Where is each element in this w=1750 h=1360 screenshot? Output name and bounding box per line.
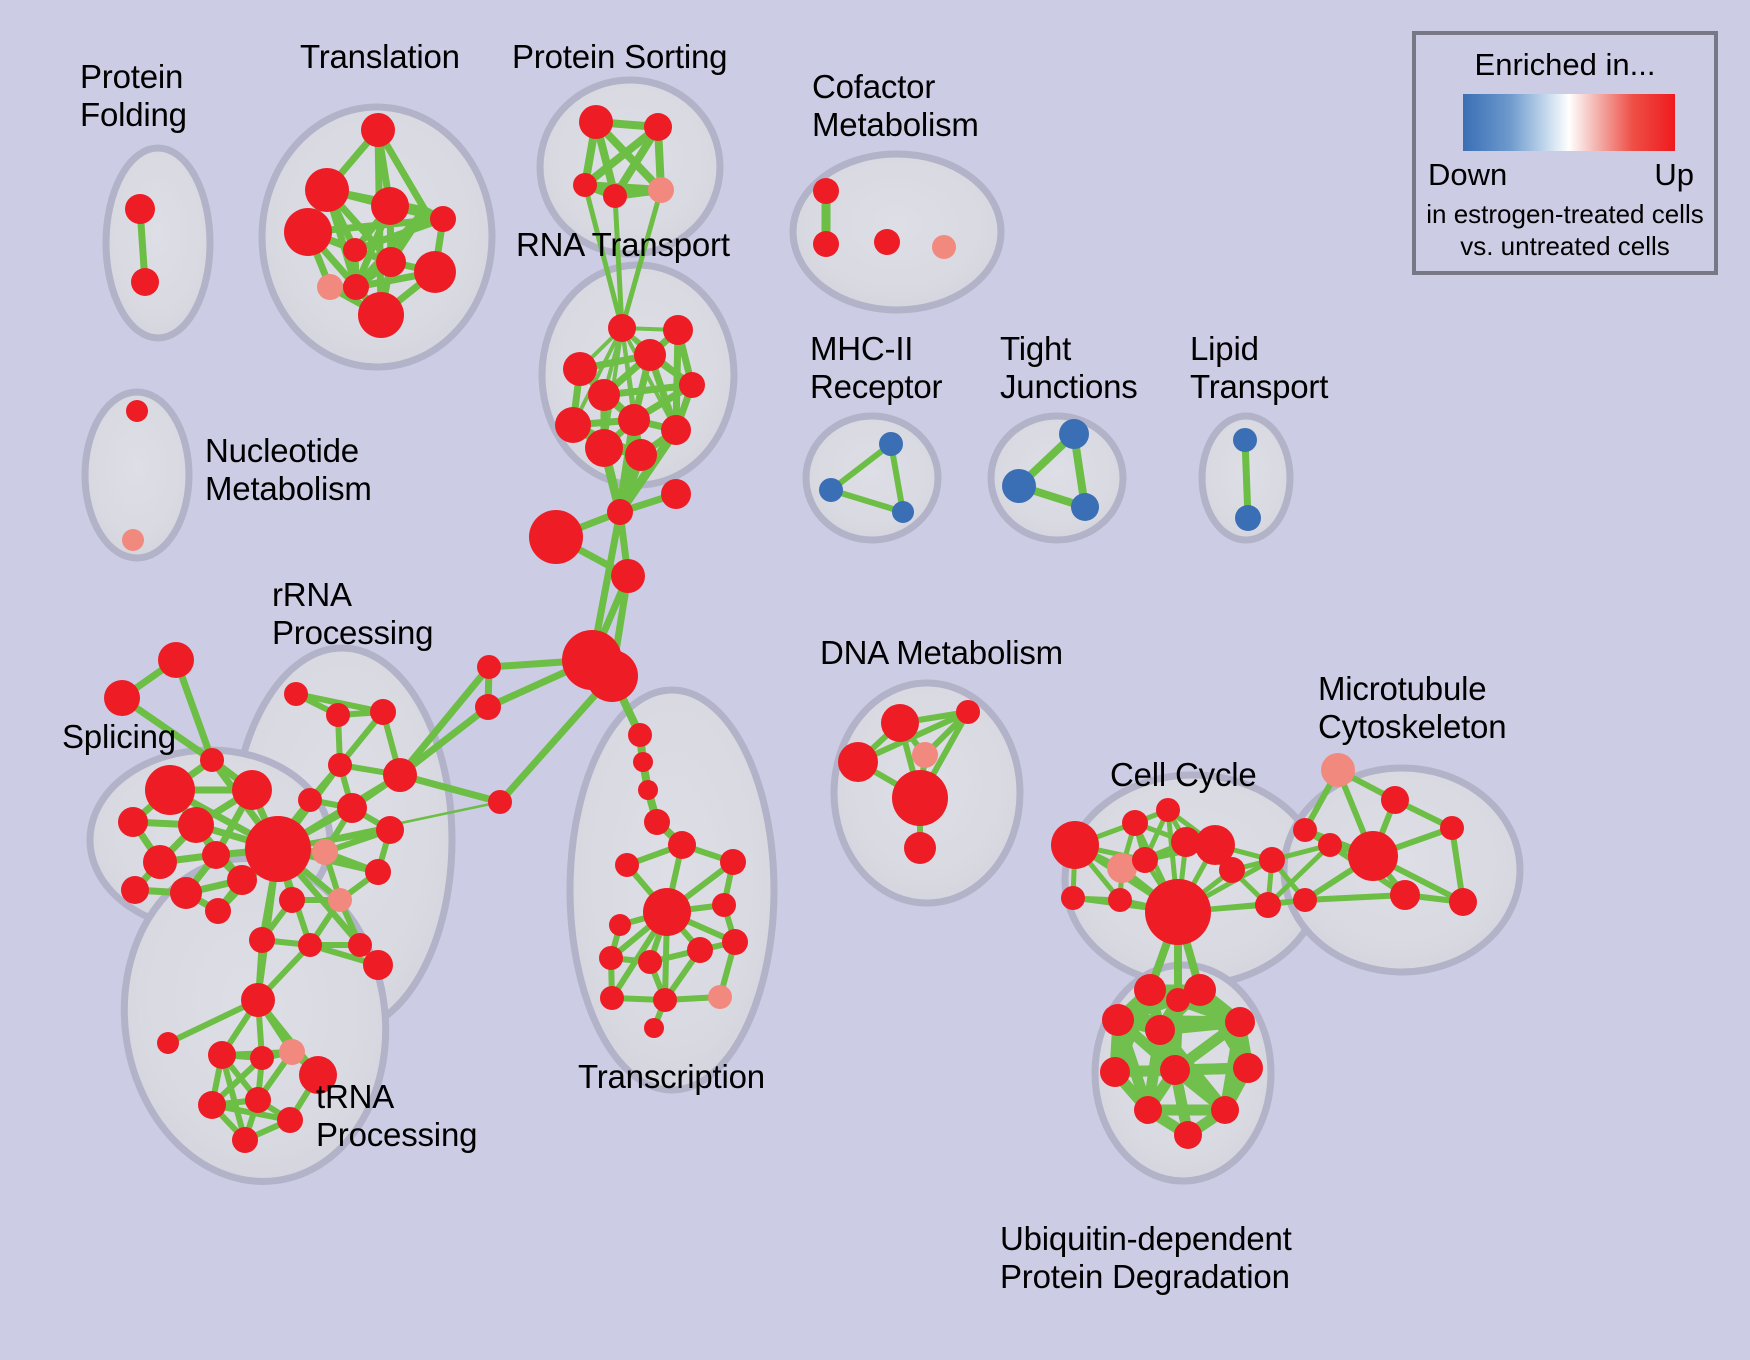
gene-set-node[interactable] [529, 510, 583, 564]
gene-set-node[interactable] [118, 807, 148, 837]
gene-set-node[interactable] [131, 268, 159, 296]
cluster-label-cell-cycle: Cell Cycle [1110, 756, 1257, 794]
gene-set-node[interactable] [241, 983, 275, 1017]
gene-set-node[interactable] [644, 809, 670, 835]
gene-set-node[interactable] [488, 790, 512, 814]
gene-set-node[interactable] [376, 816, 404, 844]
cluster-label-splicing: Splicing [62, 718, 176, 756]
gene-set-node[interactable] [1233, 428, 1257, 452]
legend-up-label: Up [1654, 157, 1694, 193]
gene-set-node[interactable] [819, 478, 843, 502]
gene-set-node[interactable] [634, 339, 666, 371]
gene-set-node[interactable] [312, 839, 338, 865]
gene-set-node[interactable] [1156, 798, 1180, 822]
gene-set-node[interactable] [250, 1046, 274, 1070]
gene-set-node[interactable] [648, 177, 674, 203]
enrichment-map-figure: Protein Folding Translation Protein Sort… [0, 0, 1750, 1360]
gene-set-node[interactable] [279, 887, 305, 913]
cluster-label-tight-junctions: Tight Junctions [1000, 330, 1138, 406]
gene-set-node[interactable] [663, 315, 693, 345]
cluster-label-mhc-ii-receptor: MHC-II Receptor [810, 330, 942, 406]
gene-set-node[interactable] [277, 1107, 303, 1133]
gene-set-node[interactable] [1122, 810, 1148, 836]
gene-set-node[interactable] [284, 208, 332, 256]
gene-set-node[interactable] [611, 559, 645, 593]
gene-set-node[interactable] [555, 407, 591, 443]
gene-set-node[interactable] [245, 1087, 271, 1113]
gene-set-node[interactable] [573, 173, 597, 197]
hull-mhcii [806, 416, 938, 540]
gene-set-node[interactable] [104, 680, 140, 716]
gene-set-node[interactable] [956, 700, 980, 724]
gene-set-node[interactable] [317, 274, 343, 300]
legend-subtitle-line1: in estrogen-treated cells [1416, 199, 1714, 230]
gene-set-node[interactable] [1061, 886, 1085, 910]
gene-set-node[interactable] [708, 985, 732, 1009]
gene-set-node[interactable] [475, 694, 501, 720]
gene-set-node[interactable] [720, 849, 746, 875]
gene-set-node[interactable] [1235, 505, 1261, 531]
cluster-label-protein-folding: Protein Folding [80, 58, 187, 134]
gene-set-node[interactable] [892, 770, 948, 826]
gene-set-node[interactable] [912, 742, 938, 768]
gene-set-node[interactable] [1002, 469, 1036, 503]
legend-title: Enriched in... [1416, 47, 1714, 83]
gene-set-node[interactable] [609, 914, 631, 936]
cluster-label-protein-sorting: Protein Sorting [512, 38, 727, 76]
cluster-label-lipid-transport: Lipid Transport [1190, 330, 1328, 406]
gene-set-node[interactable] [1102, 1004, 1134, 1036]
gene-set-node[interactable] [245, 816, 311, 882]
gene-set-node[interactable] [625, 439, 657, 471]
gene-set-node[interactable] [838, 742, 878, 782]
gene-set-node[interactable] [305, 168, 349, 212]
gene-set-node[interactable] [643, 888, 691, 936]
cluster-label-transcription: Transcription [578, 1058, 765, 1096]
gene-set-node[interactable] [1255, 892, 1281, 918]
gene-set-node[interactable] [607, 499, 633, 525]
gene-set-node[interactable] [1174, 1121, 1202, 1149]
gene-set-node[interactable] [343, 274, 369, 300]
gene-set-node[interactable] [1225, 1007, 1255, 1037]
gene-set-node[interactable] [170, 877, 202, 909]
gene-set-node[interactable] [348, 933, 372, 957]
gene-set-node[interactable] [1318, 833, 1342, 857]
gene-set-node[interactable] [376, 247, 406, 277]
gene-set-node[interactable] [1259, 847, 1285, 873]
gene-set-node[interactable] [1321, 753, 1355, 787]
gene-set-node[interactable] [1390, 880, 1420, 910]
gene-set-node[interactable] [143, 845, 177, 879]
cluster-label-dna-metabolism: DNA Metabolism [820, 634, 1063, 672]
gene-set-node[interactable] [328, 888, 352, 912]
gene-set-node[interactable] [365, 859, 391, 885]
gene-set-node[interactable] [638, 950, 662, 974]
gene-set-node[interactable] [430, 206, 456, 232]
gene-set-node[interactable] [879, 432, 903, 456]
gene-set-node[interactable] [644, 1018, 664, 1038]
gene-set-node[interactable] [653, 988, 677, 1012]
gene-set-node[interactable] [633, 752, 653, 772]
legend-color-gradient-bar [1463, 94, 1675, 151]
gene-set-node[interactable] [1233, 1053, 1263, 1083]
cluster-label-translation: Translation [300, 38, 460, 76]
gene-set-node[interactable] [1100, 1057, 1130, 1087]
gene-set-node[interactable] [638, 780, 658, 800]
gene-set-node[interactable] [600, 986, 624, 1010]
gene-set-node[interactable] [208, 1041, 236, 1069]
gene-set-node[interactable] [328, 753, 352, 777]
gene-set-node[interactable] [588, 379, 620, 411]
gene-set-node[interactable] [644, 113, 672, 141]
gene-set-node[interactable] [205, 898, 231, 924]
gene-set-node[interactable] [618, 404, 650, 436]
gene-set-node[interactable] [892, 501, 914, 523]
gene-set-node[interactable] [122, 529, 144, 551]
gene-set-node[interactable] [361, 113, 395, 147]
gene-set-node[interactable] [586, 650, 638, 702]
gene-set-node[interactable] [661, 479, 691, 509]
gene-set-node[interactable] [608, 314, 636, 342]
gene-set-node[interactable] [1071, 493, 1099, 521]
gene-set-node[interactable] [126, 400, 148, 422]
gene-set-node[interactable] [1108, 888, 1132, 912]
gene-set-node[interactable] [1160, 1055, 1190, 1085]
gene-set-node[interactable] [1440, 816, 1464, 840]
gene-set-node[interactable] [284, 682, 308, 706]
gene-set-node[interactable] [157, 1032, 179, 1054]
cluster-label-microtubule: Microtubule Cytoskeleton [1318, 670, 1506, 746]
gene-set-node[interactable] [198, 1091, 226, 1119]
gene-set-node[interactable] [371, 187, 409, 225]
cluster-label-nucleotide-metabolism: Nucleotide Metabolism [205, 432, 372, 508]
gene-set-node[interactable] [603, 184, 627, 208]
gene-set-node[interactable] [1051, 821, 1099, 869]
gene-set-node[interactable] [1166, 988, 1190, 1012]
gene-set-node[interactable] [370, 699, 396, 725]
gene-set-node[interactable] [232, 770, 272, 810]
gene-set-node[interactable] [813, 231, 839, 257]
gene-set-node[interactable] [1134, 1096, 1162, 1124]
gene-set-node[interactable] [813, 178, 839, 204]
gene-set-node[interactable] [599, 946, 623, 970]
gene-set-node[interactable] [615, 853, 639, 877]
gene-set-node[interactable] [1293, 888, 1317, 912]
gene-set-node[interactable] [1145, 1015, 1175, 1045]
gene-set-node[interactable] [125, 194, 155, 224]
gene-set-node[interactable] [1293, 818, 1317, 842]
gene-set-node[interactable] [343, 238, 367, 262]
gene-set-node[interactable] [563, 352, 597, 386]
hull-protein-folding [106, 148, 210, 338]
gene-set-node[interactable] [579, 105, 613, 139]
gene-set-node[interactable] [1145, 879, 1211, 945]
gene-set-node[interactable] [279, 1039, 305, 1065]
legend-down-label: Down [1428, 157, 1507, 193]
gene-set-node[interactable] [1132, 847, 1158, 873]
gene-set-node[interactable] [1134, 974, 1166, 1006]
cluster-label-cofactor-metabolism: Cofactor Metabolism [812, 68, 979, 144]
legend-subtitle-line2: vs. untreated cells [1416, 231, 1714, 262]
gene-set-node[interactable] [668, 831, 696, 859]
gene-set-node[interactable] [1381, 786, 1409, 814]
gene-set-node[interactable] [202, 841, 230, 869]
gene-set-node[interactable] [298, 933, 322, 957]
gene-set-node[interactable] [1449, 888, 1477, 916]
gene-set-node[interactable] [712, 893, 736, 917]
cluster-label-trna-processing: tRNA Processing [316, 1078, 477, 1154]
gene-set-node[interactable] [477, 655, 501, 679]
gene-set-node[interactable] [881, 704, 919, 742]
gene-set-node[interactable] [358, 292, 404, 338]
gene-set-node[interactable] [145, 765, 195, 815]
gene-set-node[interactable] [121, 876, 149, 904]
gene-set-node[interactable] [326, 703, 350, 727]
gene-set-node[interactable] [904, 832, 936, 864]
gene-set-node[interactable] [1211, 1096, 1239, 1124]
gene-set-node[interactable] [874, 229, 900, 255]
cluster-label-rrna-processing: rRNA Processing [272, 576, 433, 652]
gene-set-node[interactable] [722, 929, 748, 955]
gene-set-node[interactable] [249, 927, 275, 953]
gene-set-node[interactable] [200, 748, 224, 772]
gene-set-node[interactable] [337, 793, 367, 823]
gene-set-node[interactable] [1059, 419, 1089, 449]
cluster-label-ubiquitin: Ubiquitin-dependent Protein Degradation [1000, 1220, 1292, 1296]
gene-set-node[interactable] [363, 950, 393, 980]
gene-set-node[interactable] [585, 429, 623, 467]
legend-box: Enriched in... Down Up in estrogen-treat… [1412, 31, 1718, 275]
gene-set-node[interactable] [661, 415, 691, 445]
gene-set-node[interactable] [628, 723, 652, 747]
cluster-label-rna-transport: RNA Transport [516, 226, 730, 264]
gene-set-node[interactable] [687, 937, 713, 963]
gene-set-node[interactable] [414, 251, 456, 293]
gene-set-node[interactable] [298, 788, 322, 812]
gene-set-node[interactable] [1219, 857, 1245, 883]
gene-set-node[interactable] [383, 758, 417, 792]
gene-set-node[interactable] [1348, 831, 1398, 881]
gene-set-node[interactable] [232, 1127, 258, 1153]
gene-set-node[interactable] [178, 807, 214, 843]
gene-set-node[interactable] [679, 372, 705, 398]
gene-set-node[interactable] [932, 235, 956, 259]
gene-set-node[interactable] [158, 642, 194, 678]
